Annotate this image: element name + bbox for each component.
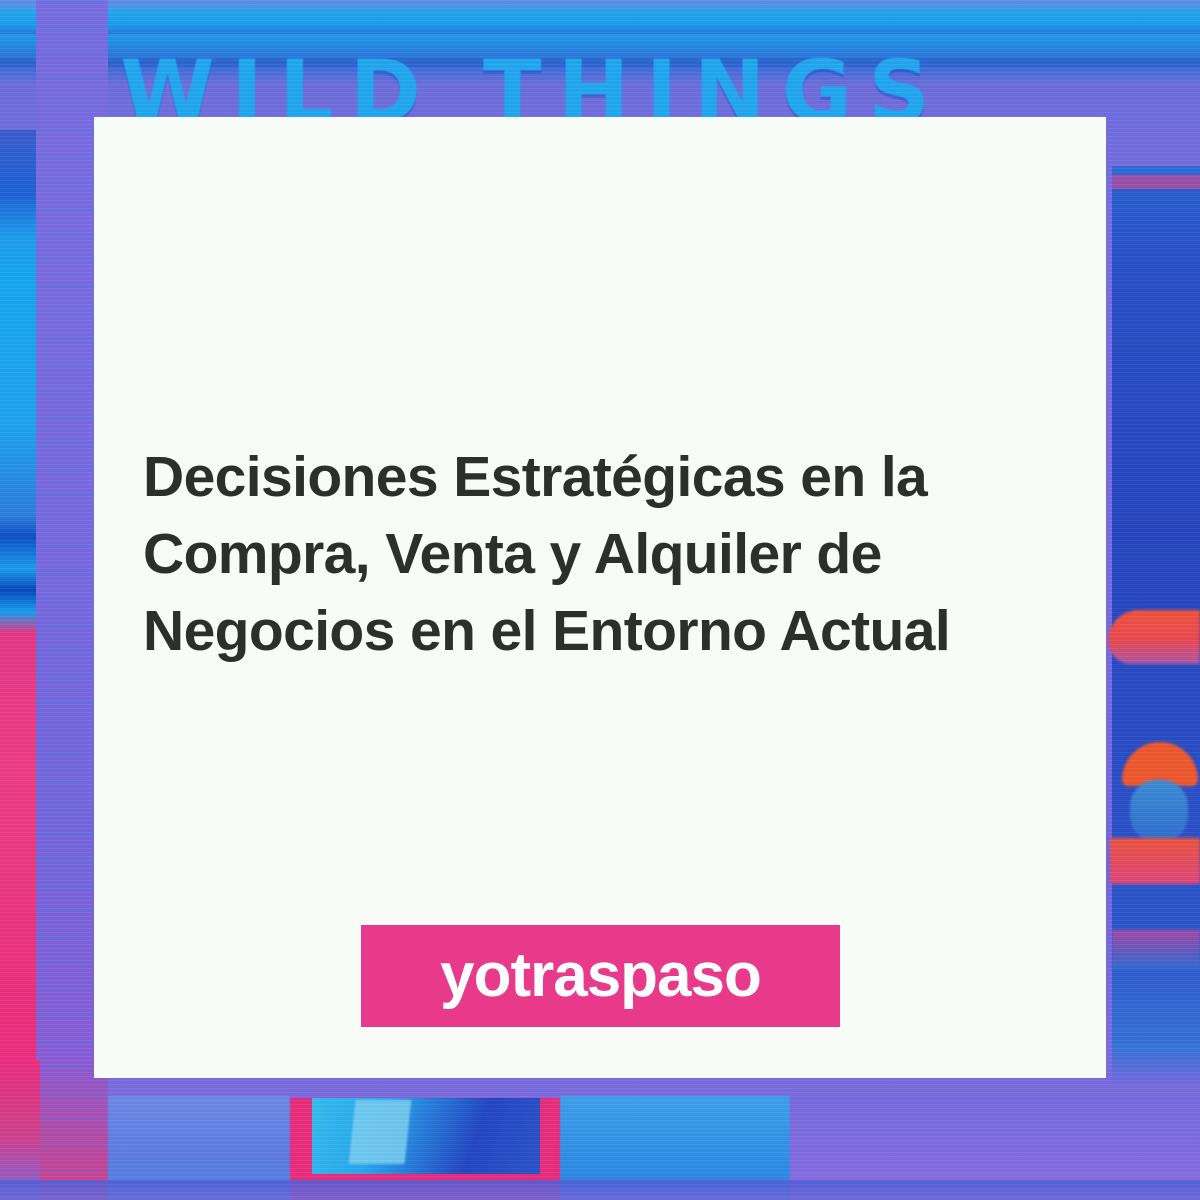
- doorway-glass-reflection: [349, 1100, 412, 1164]
- brand-logo[interactable]: yotraspaso: [361, 925, 840, 1027]
- content-card: Decisiones Estratégicas en la Compra, Ve…: [94, 117, 1106, 1078]
- page-title: Decisiones Estratégicas en la Compra, Ve…: [143, 439, 1073, 670]
- awning-stripe-upper: [0, 8, 1200, 34]
- figure-head-shape: [1130, 780, 1188, 842]
- left-pilaster-band: [0, 130, 36, 1200]
- share-card-stage: WILD THINGS Decisiones Estratégicas en l…: [0, 0, 1200, 1200]
- bottom-left-magenta-band: [0, 1060, 40, 1200]
- doorway-glass: [312, 1098, 540, 1174]
- figure-arm-shape: [1108, 610, 1200, 664]
- sidewalk-ledge: [0, 1180, 1200, 1200]
- brand-logo-text: yotraspaso: [440, 945, 761, 1007]
- figure-body-shape: [1110, 838, 1200, 884]
- right-window-lower-trim: [1112, 930, 1200, 970]
- right-window-top-trim: [1112, 175, 1200, 189]
